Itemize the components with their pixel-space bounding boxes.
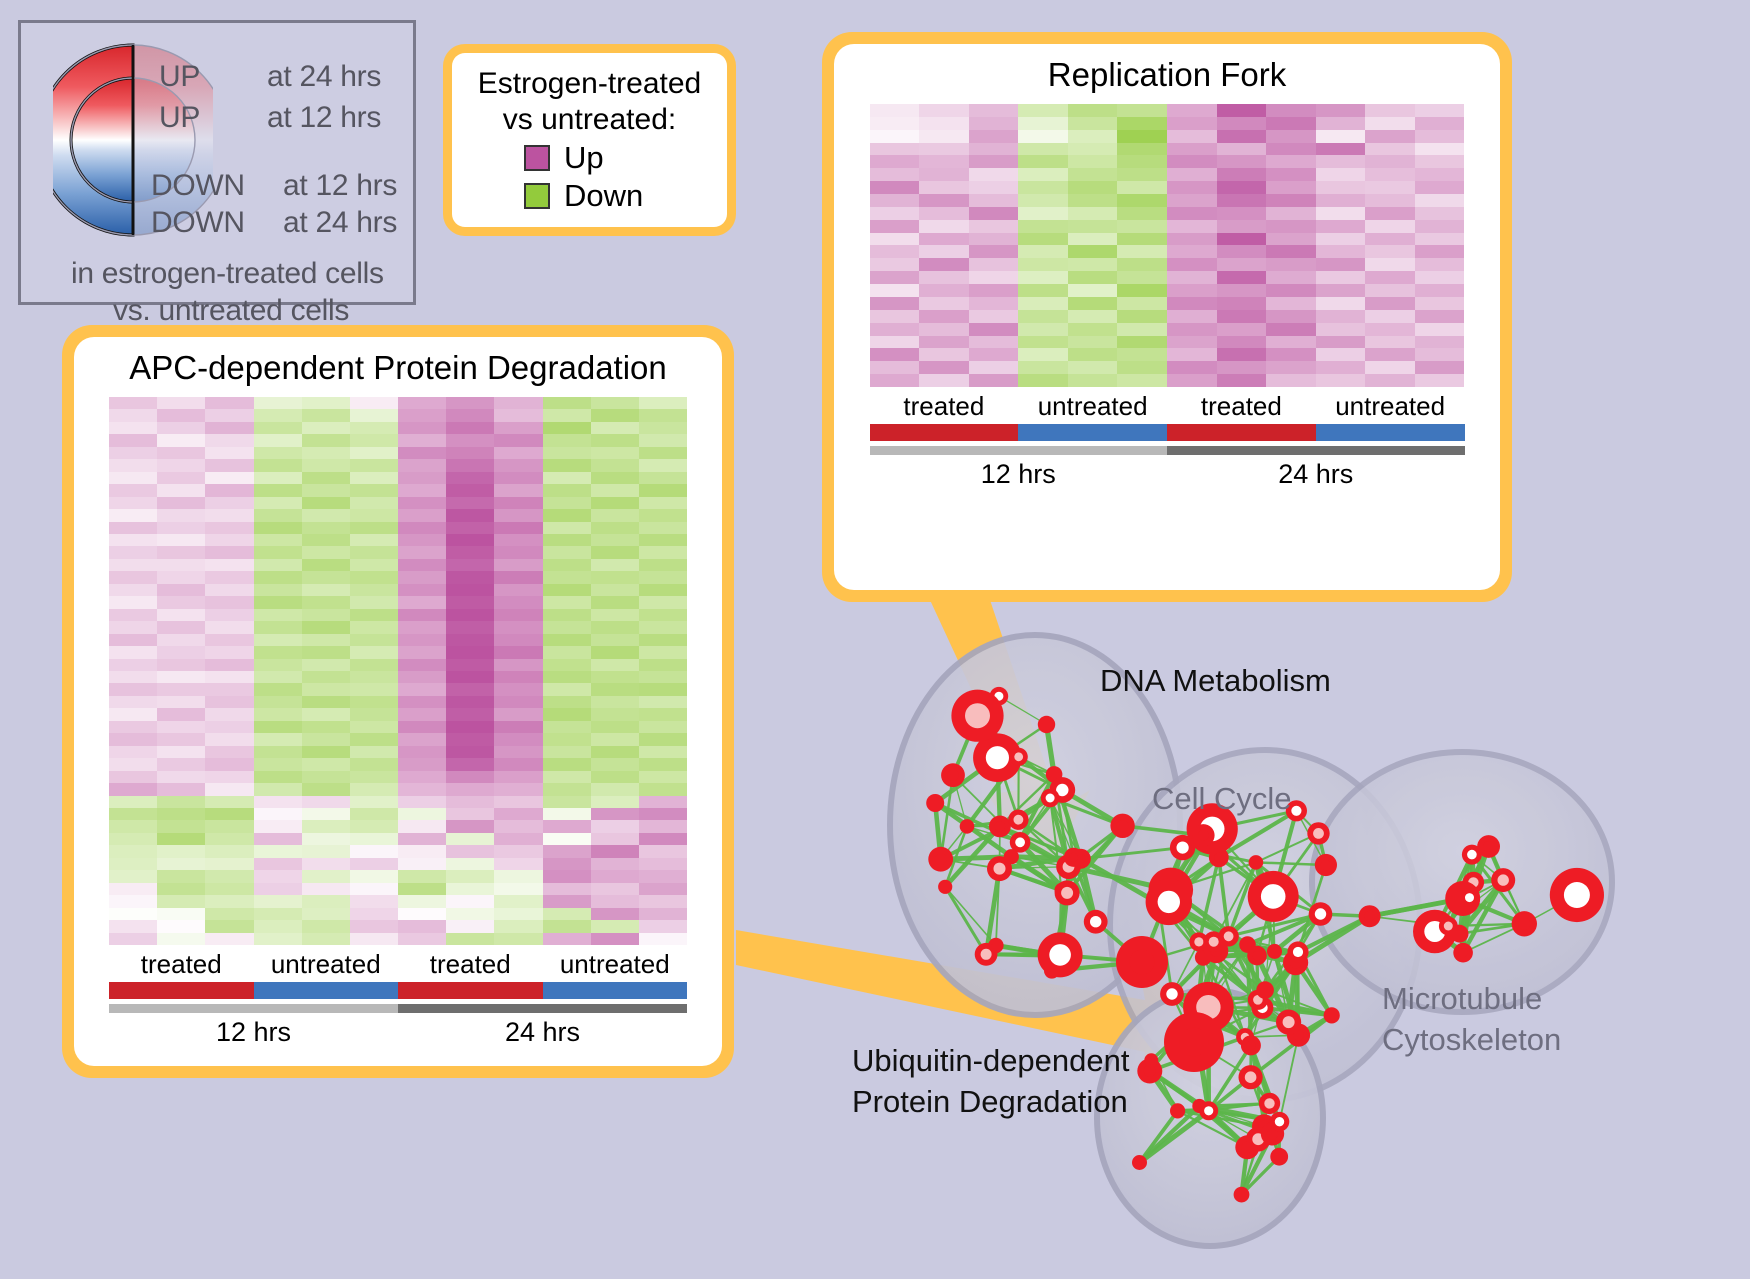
heatmap-cell [350,845,398,857]
network-node[interactable] [1038,716,1055,733]
heatmap-cell [157,596,205,608]
heatmap-cell [1415,374,1465,387]
heatmap-cell [1266,284,1316,297]
heatmap-cell [446,634,494,646]
heatmap-cell [157,746,205,758]
time-label: 12 hrs [109,1017,398,1048]
network-node[interactable] [1550,868,1604,922]
network-node[interactable] [1315,854,1337,876]
legend-caption-line1: in estrogen-treated cells [71,257,384,291]
heatmap-cell [350,733,398,745]
heatmap-cell [591,870,639,882]
heatmap-cell [639,883,687,895]
heatmap-cell [398,771,446,783]
heatmap-cell [302,858,350,870]
condition-label: treated [870,391,1019,422]
network-node[interactable] [1477,835,1500,858]
network-node[interactable] [1491,868,1515,892]
heatmap-cell [494,621,542,633]
heatmap-cell [205,596,253,608]
condition-label: untreated [543,949,688,980]
heatmap-cell [1167,155,1217,168]
heatmap-cell [494,447,542,459]
heatmap-cell [543,584,591,596]
condition-label: untreated [1018,391,1167,422]
heatmap-cell [1068,207,1118,220]
heatmap-cell [205,571,253,583]
heatmap-cell [254,409,302,421]
network-node[interactable] [1460,888,1479,907]
heatmap-cell [591,571,639,583]
heatmap-cell [591,509,639,521]
condition-label: untreated [254,949,399,980]
heatmap-cell [398,497,446,509]
heatmap-cell [446,546,494,558]
heatmap-cell [350,534,398,546]
heatmap-cell [446,820,494,832]
heatmap-cell [1117,168,1167,181]
heatmap-cell [205,870,253,882]
heatmap-cell [350,497,398,509]
heatmap-cell [1018,194,1068,207]
heatmap-cell [591,472,639,484]
heatmap-cell [350,659,398,671]
network-node[interactable] [1239,1065,1263,1089]
heatmap-cell [494,534,542,546]
network-node[interactable] [1234,1187,1250,1203]
heatmap-cell [398,621,446,633]
network-node[interactable] [1287,941,1308,962]
heatmap-cell [543,696,591,708]
heatmap-cell [1167,323,1217,336]
heatmap-cell [1068,284,1118,297]
heatmap-cell [157,447,205,459]
heatmap-cell [398,858,446,870]
condition-color-bar-apc [109,982,687,999]
cluster-label-ubiquitin-2: Protein Degradation [852,1084,1128,1120]
heatmap-cell [919,143,969,156]
heatmap-cell [1117,310,1167,323]
heatmap-cell [205,509,253,521]
heatmap-cell [205,609,253,621]
heatmap-cell [302,397,350,409]
heatmap-cell [109,671,157,683]
heatmap-cell [157,933,205,945]
network-node[interactable] [928,847,953,872]
network-node[interactable] [1259,1093,1280,1114]
heatmap-cell [1068,233,1118,246]
heatmap-cell [1316,336,1366,349]
heatmap-cell [398,708,446,720]
heatmap-cell [109,758,157,770]
heatmap-cell [109,484,157,496]
network-node[interactable] [1164,1012,1224,1072]
heatmap-cell [494,708,542,720]
heatmap-cell [1167,168,1217,181]
heatmap-cell [543,895,591,907]
heatmap-cell [1117,194,1167,207]
network-node[interactable] [1276,1010,1301,1035]
network-node[interactable] [1170,1103,1185,1118]
heatmap-cell [254,933,302,945]
heatmap-cell [543,808,591,820]
network-node[interactable] [941,763,965,787]
heatmap-cell [350,522,398,534]
heatmap-cell [494,746,542,758]
network-node[interactable] [989,816,1011,838]
heatmap-cell [302,883,350,895]
heatmap-cell [639,509,687,521]
heatmap-cell [543,870,591,882]
heatmap-cell [302,459,350,471]
heatmap-cell [302,820,350,832]
condition-bar-treated [870,424,1019,441]
heatmap-cell [1167,181,1217,194]
heatmap-cell [350,596,398,608]
heatmap-cell [870,258,920,271]
heatmap-cell [254,733,302,745]
heatmap-cell [1316,155,1366,168]
heatmap-cell [157,721,205,733]
heatmap-cell [1167,258,1217,271]
heatmap-cell [1316,310,1366,323]
network-node[interactable] [1453,943,1473,963]
heatmap-cell [157,696,205,708]
heatmap-cell [870,143,920,156]
network-node[interactable] [1203,931,1224,952]
heatmap-cell [1068,104,1118,117]
heatmap-cell [494,696,542,708]
heatmap-cell [157,708,205,720]
heatmap-cell [1018,207,1068,220]
network-node[interactable] [1008,810,1028,830]
heatmap-cell [446,733,494,745]
heatmap-cell [302,696,350,708]
up-color-swatch [524,145,550,171]
heatmap-cell [446,646,494,658]
heatmap-cell [969,130,1019,143]
heatmap-cell [157,659,205,671]
condition-label: treated [1167,391,1316,422]
heatmap-cell [302,634,350,646]
network-node[interactable] [1270,1148,1288,1166]
heatmap-cell [543,621,591,633]
heatmap-cell [1266,323,1316,336]
heatmap-cell [302,908,350,920]
heatmap-cell [543,659,591,671]
heatmap-cell [639,721,687,733]
heatmap-cell [870,194,920,207]
heatmap-cell [494,758,542,770]
heatmap-cell [1117,374,1167,387]
heatmap-cell [350,721,398,733]
heatmap-cell [969,258,1019,271]
heatmap-cell [639,397,687,409]
network-node[interactable] [951,690,1003,742]
heatmap-cell [591,409,639,421]
heatmap-cell [157,509,205,521]
heatmap-cell [302,584,350,596]
heatmap-cell [109,920,157,932]
heatmap-cell [494,721,542,733]
heatmap-cell [109,820,157,832]
heatmap-cell [1365,297,1415,310]
heatmap-cell [302,708,350,720]
heatmap-cell [591,559,639,571]
heatmap-cell [1167,220,1217,233]
heatmap-cell [1217,361,1267,374]
heatmap-cell [1316,323,1366,336]
heatmap-cell [494,497,542,509]
condition-bar-untreated [254,982,399,999]
condition-bar-untreated [1018,424,1167,441]
heatmap-cell [870,336,920,349]
heatmap-cell [398,870,446,882]
heatmap-cell [543,522,591,534]
heatmap-cell [1217,155,1267,168]
heatmap-cell [446,659,494,671]
heatmap-cell [1415,130,1465,143]
heatmap-cell [1365,323,1415,336]
network-node[interactable] [1132,1155,1147,1170]
heatmap-cell [1316,104,1366,117]
heatmap-cell [543,397,591,409]
heatmap-cell [919,310,969,323]
heatmap-cell [494,571,542,583]
heatmap-cell [398,845,446,857]
heatmap-cell [639,845,687,857]
time-bar-24h [1167,446,1465,455]
network-node[interactable] [1146,879,1192,925]
heatmap-cell [446,397,494,409]
network-node[interactable] [1116,936,1168,988]
heatmap-cell [350,422,398,434]
heatmap-cell [1167,374,1217,387]
heatmap-cell [157,646,205,658]
heatmap-cell [969,271,1019,284]
heatmap-cell [157,621,205,633]
heatmap-cell [1167,194,1217,207]
heatmap-cell [350,409,398,421]
heatmap-cell [494,422,542,434]
heatmap-cell [639,820,687,832]
network-node[interactable] [1512,911,1537,936]
heatmap-cell [302,870,350,882]
heatmap-cell [254,584,302,596]
heatmap-cell [1266,143,1316,156]
heatmap-cell [350,746,398,758]
heatmap-cell [157,434,205,446]
heatmap-cell [639,646,687,658]
heatmap-cell [1266,155,1316,168]
heatmap-cell [494,484,542,496]
heatmap-cell [591,546,639,558]
network-node[interactable] [1256,981,1274,999]
heatmap-cell [157,908,205,920]
heatmap-cell [1365,220,1415,233]
heatmap-cell [494,771,542,783]
heatmap-cell [1266,117,1316,130]
heatmap-cell [446,696,494,708]
heatmap-cell [969,155,1019,168]
network-node[interactable] [1110,814,1134,838]
heatmap-cell [1316,168,1366,181]
heatmap-cell [302,522,350,534]
network-node[interactable] [1248,871,1299,922]
heatmap-cell [205,484,253,496]
legend-item-down: Down [452,178,727,214]
heatmap-cell [446,584,494,596]
heatmap-cell [494,546,542,558]
heatmap-cell [639,796,687,808]
network-node[interactable] [1192,824,1214,846]
heatmap-cell [302,671,350,683]
heatmap-cell [446,621,494,633]
network-node[interactable] [1004,849,1019,864]
heatmap-cell [639,621,687,633]
heatmap-cell [591,820,639,832]
heatmap-cell [543,845,591,857]
heatmap-cell [919,233,969,246]
network-node[interactable] [1144,1053,1158,1067]
heatmap-cell [1018,361,1068,374]
heatmap-cell [350,621,398,633]
heatmap-cell [919,258,969,271]
timepoint-labels-rf: 12 hrs 24 hrs [870,459,1465,490]
network-node[interactable] [1307,822,1329,844]
heatmap-cell [870,348,920,361]
heatmap-cell [919,323,969,336]
heatmap-cell [254,447,302,459]
heatmap-cell [1068,374,1118,387]
network-node[interactable] [1249,855,1264,870]
heatmap-cell [591,621,639,633]
network-node[interactable] [1055,880,1080,905]
network-node[interactable] [1170,835,1195,860]
heatmap-cell [639,497,687,509]
network-node[interactable] [1241,1035,1261,1055]
heatmap-cell [1018,258,1068,271]
heatmap-cell [446,920,494,932]
heatmap-cell [1266,258,1316,271]
timepoint-color-bar-apc [109,1004,687,1013]
network-node[interactable] [1359,905,1381,927]
network-node[interactable] [1324,1007,1340,1023]
heatmap-cell [1167,297,1217,310]
heatmap-cell [591,746,639,758]
heatmap-cell [109,472,157,484]
heatmap-cell [446,596,494,608]
network-node[interactable] [1160,982,1184,1006]
heatmap-cell [543,858,591,870]
heatmap-cell [254,634,302,646]
heatmap-cell [446,708,494,720]
network-node[interactable] [975,943,998,966]
network-node[interactable] [1041,789,1060,808]
heatmap-cell [302,646,350,658]
network-node[interactable] [1309,902,1333,926]
network-node[interactable] [1270,1112,1290,1132]
network-node[interactable] [1247,946,1267,966]
network-node[interactable] [960,819,975,834]
heatmap-cell [205,708,253,720]
heatmap-cell [350,820,398,832]
network-node[interactable] [1439,917,1458,936]
heatmap-cell [446,409,494,421]
heatmap-cell [205,746,253,758]
heatmap-cell [1117,297,1167,310]
heatmap-cell [398,895,446,907]
heatmap-cell [350,895,398,907]
network-node[interactable] [1064,848,1083,867]
network-node[interactable] [1199,1101,1218,1120]
heatmap-cell [591,634,639,646]
heatmap-cell [350,683,398,695]
heatmap-cell [350,796,398,808]
network-node[interactable] [926,794,944,812]
heatmap-cell [1217,271,1267,284]
axis-apc: treated untreated treated untreated [109,949,687,1048]
heatmap-cell [1018,117,1068,130]
heatmap-cell [205,808,253,820]
heatmap-cell [1415,104,1465,117]
network-node[interactable] [1010,748,1028,766]
heatmap-cell [109,422,157,434]
network-node[interactable] [1038,932,1083,977]
heatmap-cell [639,858,687,870]
pathway-network-graph [790,610,1750,1279]
heatmap-cell [302,783,350,795]
heatmap-cell [1266,207,1316,220]
heatmap-cell [543,908,591,920]
heatmap-cell [494,870,542,882]
timepoint-labels-apc: 12 hrs 24 hrs [109,1017,687,1048]
network-node[interactable] [1267,944,1282,959]
heatmap-cell [591,895,639,907]
heatmap-cell [1365,143,1415,156]
heatmap-cell [302,434,350,446]
heatmap-cell [591,883,639,895]
time-bar-12h [109,1004,398,1013]
heatmap-cell [109,845,157,857]
heatmap-cell [494,858,542,870]
heatmap-cell [157,497,205,509]
heatmap-cell [398,559,446,571]
legend-up-24-time: at 24 hrs [267,60,381,94]
network-node[interactable] [1209,848,1229,868]
network-node[interactable] [1084,910,1108,934]
heatmap-cell [109,497,157,509]
heatmap-cell [157,808,205,820]
heatmap-cell [1117,258,1167,271]
heatmap-cell [1365,181,1415,194]
heatmap-cell [254,758,302,770]
heatmap-cell [543,596,591,608]
network-node[interactable] [938,880,952,894]
time-bar-24h [398,1004,687,1013]
heatmap-cell [639,933,687,945]
heatmap-cell [205,933,253,945]
heatmap-cell [157,733,205,745]
heatmap-cell [591,920,639,932]
heatmap-cell [398,434,446,446]
heatmap-cell [1068,117,1118,130]
heatmap-cell [302,534,350,546]
heatmap-cell [494,459,542,471]
heatmap-cell [1415,143,1465,156]
heatmap-cell [591,721,639,733]
cluster-label-dna-metabolism: DNA Metabolism [1100,663,1331,699]
